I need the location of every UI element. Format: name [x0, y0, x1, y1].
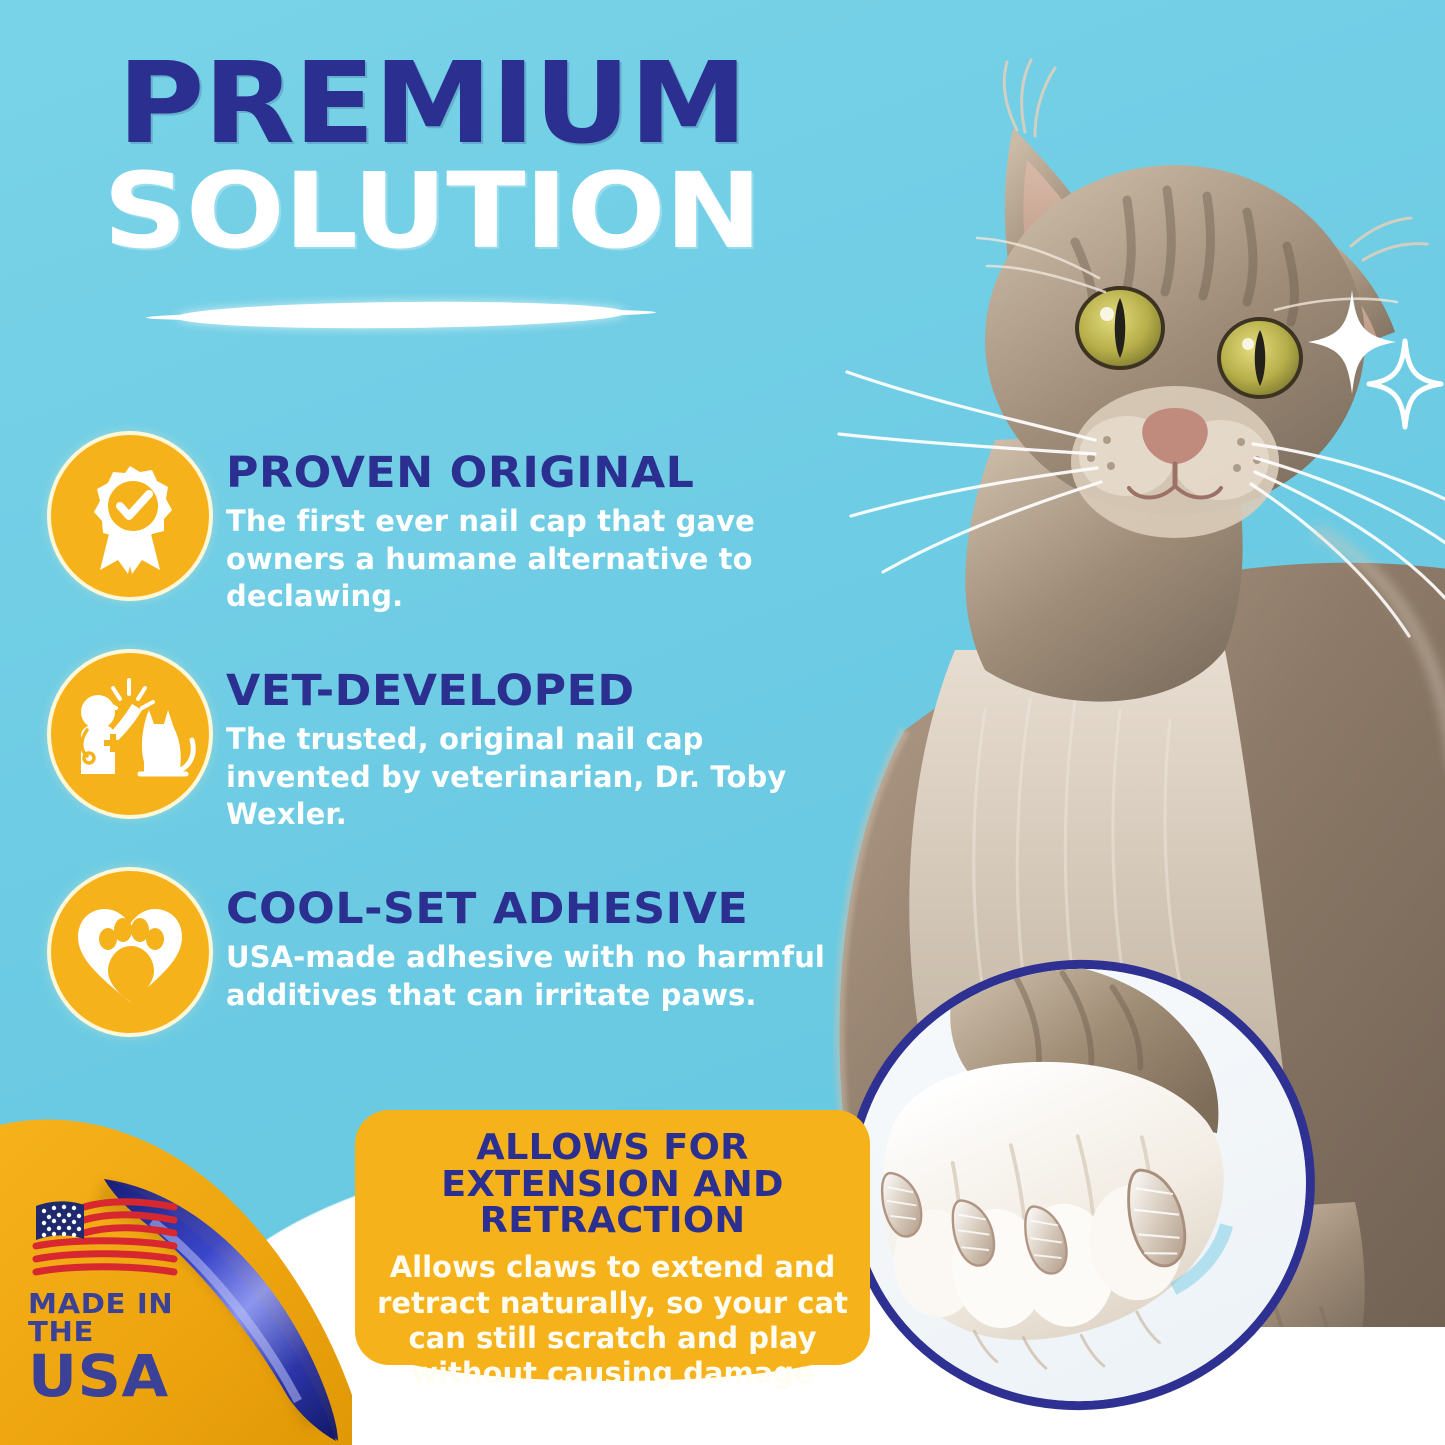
- made-in-usa-line-1: MADE IN THE: [28, 1290, 246, 1346]
- feature-title: COOL-SET ADHESIVE: [226, 888, 865, 931]
- feature-list: PROVEN ORIGINAL The first ever nail cap …: [56, 440, 846, 1070]
- vet-high-five-cat-icon: [56, 658, 204, 810]
- heart-paw-icon: [56, 876, 204, 1028]
- made-in-usa-line-2: USA: [28, 1346, 246, 1407]
- usa-flag-icon: [28, 1196, 180, 1280]
- extension-retraction-callout: ALLOWS FOR EXTENSION AND RETRACTION Allo…: [355, 1110, 870, 1365]
- callout-description: Allows claws to extend and retract natur…: [371, 1250, 854, 1392]
- feature-description: The first ever nail cap that gave owners…: [226, 503, 846, 616]
- feature-title: PROVEN ORIGINAL: [226, 452, 865, 495]
- headline-line-2: SOLUTION: [0, 161, 869, 263]
- cat-paw-with-nail-caps-closeup: [823, 937, 1337, 1434]
- feature-title: VET-DEVELOPED: [226, 670, 865, 713]
- made-in-usa-badge: MADE IN THE USA: [28, 1196, 238, 1407]
- sparkle-star-outline-icon: [1366, 338, 1444, 430]
- award-ribbon-icon: [56, 440, 204, 592]
- callout-title: ALLOWS FOR EXTENSION AND RETRACTION: [366, 1130, 859, 1240]
- headline-block: PREMIUM SOLUTION: [42, 52, 822, 263]
- feature-description: The trusted, original nail cap invented …: [226, 721, 846, 834]
- feature-item-vet-developed: VET-DEVELOPED The trusted, original nail…: [56, 658, 846, 834]
- feature-description: USA-made adhesive with no harmful additi…: [226, 939, 846, 1014]
- feature-item-proven-original: PROVEN ORIGINAL The first ever nail cap …: [56, 440, 846, 616]
- infographic-canvas: PREMIUM SOLUTION PROVEN ORIGINAL The fir…: [0, 0, 1445, 1445]
- headline-line-1: PREMIUM: [19, 52, 846, 157]
- feature-item-cool-set-adhesive: COOL-SET ADHESIVE USA-made adhesive with…: [56, 876, 846, 1028]
